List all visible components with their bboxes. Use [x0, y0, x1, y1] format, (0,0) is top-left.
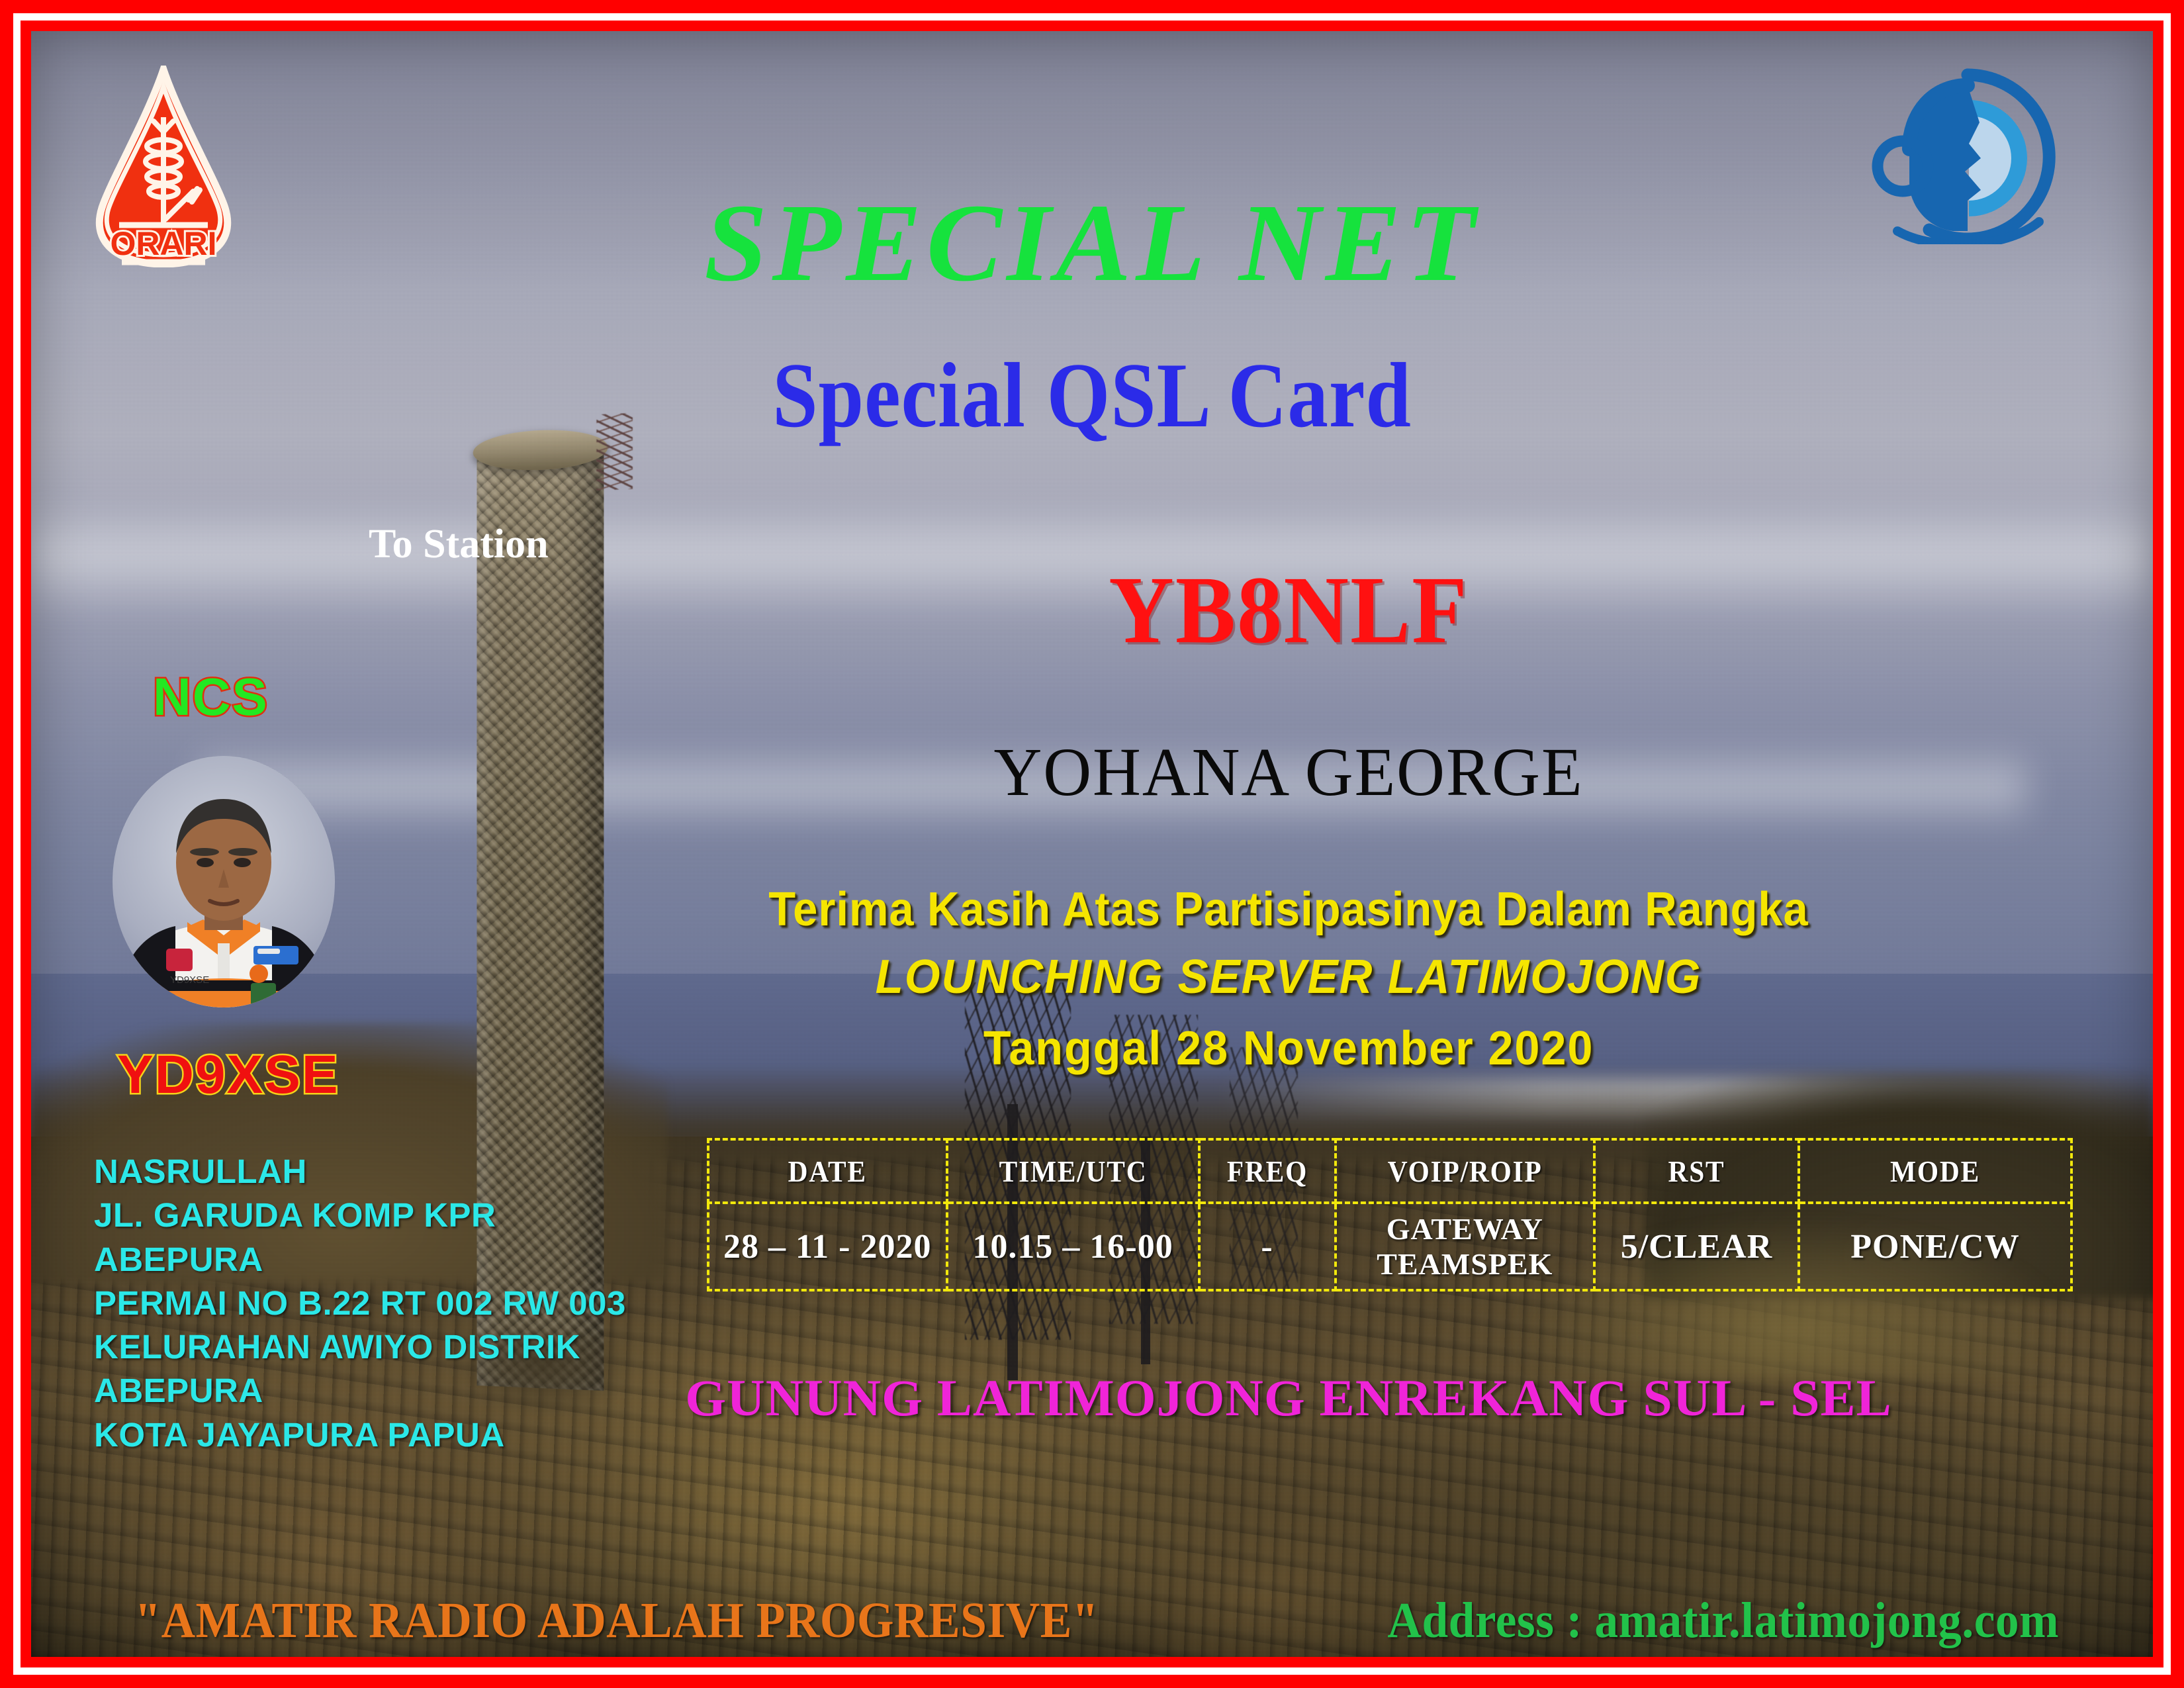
card-border-red-inner: ORARI — [21, 21, 2163, 1667]
footer-website: Address : amatir.latimojong.com — [1387, 1592, 2059, 1650]
cell-voip: GATEWAY TEAMSPEK — [1336, 1203, 1594, 1290]
qso-log-table: DATE TIME/UTC FREQ VOIP/ROIP RST MODE 28… — [707, 1138, 2073, 1291]
page-title: SPECIAL NET — [31, 179, 2153, 307]
address-line: KELURAHAN AWIYO DISTRIK — [94, 1325, 626, 1369]
table-row: 28 – 11 - 2020 10.15 – 16-00 - GATEWAY T… — [708, 1203, 2071, 1290]
cell-freq: - — [1199, 1203, 1336, 1290]
cell-mode: PONE/CW — [1799, 1203, 2071, 1290]
cell-voip-line1: GATEWAY — [1337, 1211, 1593, 1246]
operator-name: YOHANA GEORGE — [788, 733, 1789, 812]
cell-rst: 5/CLEAR — [1594, 1203, 1799, 1290]
column-header-mode: MODE — [1813, 1139, 2058, 1203]
column-header-voip: VOIP/ROIP — [1348, 1139, 1581, 1203]
location-label: GUNUNG LATIMOJONG ENREKANG SUL - SEL — [546, 1368, 2031, 1428]
thanks-line-2: LOUNCHING SERVER LATIMOJONG — [717, 950, 1860, 1004]
thanks-line-1: Terima Kasih Atas Partisipasinya Dalam R… — [735, 882, 1843, 937]
card-background-photo: ORARI — [31, 31, 2153, 1657]
to-station-label: To Station — [369, 521, 549, 568]
column-header-freq: FREQ — [1206, 1139, 1328, 1203]
address-line: JL. GARUDA KOMP KPR — [94, 1194, 626, 1237]
thanks-line-3: Tanggal 28 November 2020 — [723, 1021, 1854, 1076]
card-border-white: ORARI — [13, 13, 2171, 1675]
station-callsign: YB8NLF — [747, 555, 1831, 666]
cell-date: 28 – 11 - 2020 — [708, 1203, 947, 1290]
qsl-card: ORARI — [0, 0, 2184, 1688]
address-line: ABEPURA — [94, 1238, 626, 1282]
column-header-date: DATE — [720, 1139, 934, 1203]
table-header-row: DATE TIME/UTC FREQ VOIP/ROIP RST MODE — [708, 1139, 2071, 1203]
content-overlay: ORARI — [31, 31, 2153, 1657]
cell-time: 10.15 – 16-00 — [947, 1203, 1199, 1290]
address-line: PERMAI NO B.22 RT 002 RW 003 — [94, 1282, 626, 1325]
ncs-callsign: YD9XSE — [117, 1044, 340, 1106]
footer-motto: "AMATIR RADIO ADALAH PROGRESIVE" — [134, 1592, 1098, 1650]
cell-voip-line2: TEAMSPEK — [1337, 1246, 1593, 1282]
uniform-callsign-text: YD9XSE — [170, 974, 209, 986]
address-line: NASRULLAH — [94, 1150, 626, 1194]
column-header-rst: RST — [1604, 1139, 1788, 1203]
ncs-label: NCS — [153, 667, 269, 727]
page-subtitle: Special QSL Card — [158, 342, 2025, 449]
operator-portrait-photo: YD9XSE — [88, 753, 359, 1011]
column-header-time: TIME/UTC — [960, 1139, 1187, 1203]
